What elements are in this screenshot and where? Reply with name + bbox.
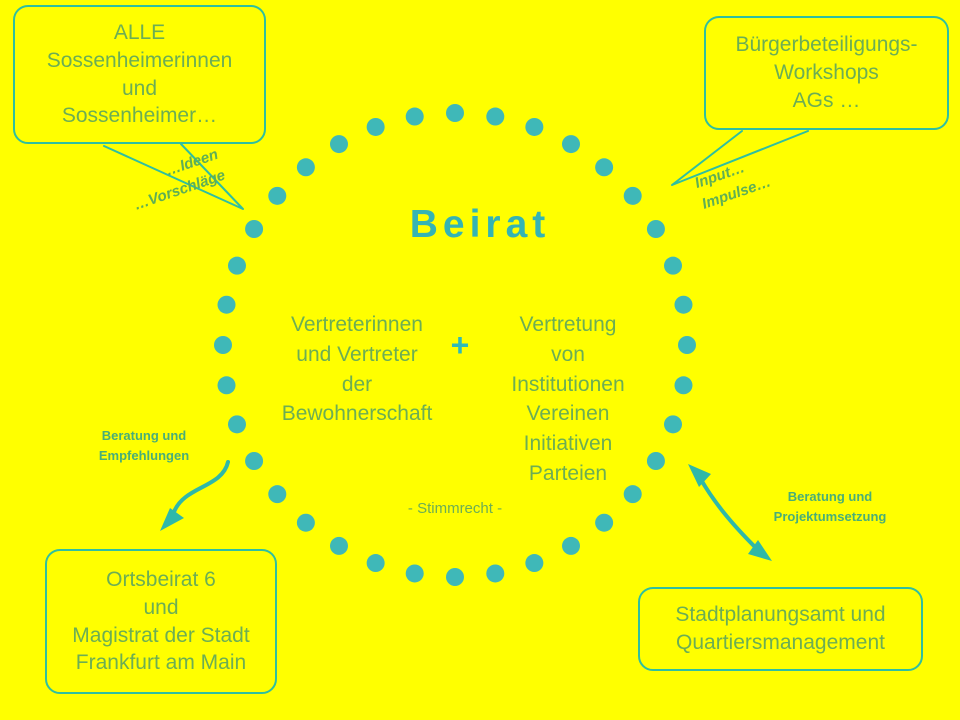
ring-dot bbox=[245, 452, 263, 470]
callout-box-ortsbeirat[interactable]: Ortsbeirat 6 und Magistrat der Stadt Fra… bbox=[45, 549, 277, 694]
ring-dot bbox=[562, 135, 580, 153]
arrow-advice-recommendations bbox=[174, 462, 228, 512]
ring-dot bbox=[214, 336, 232, 354]
ring-dot bbox=[525, 118, 543, 136]
ring-dot bbox=[595, 514, 613, 532]
ring-dot bbox=[674, 376, 692, 394]
ring-dot bbox=[525, 554, 543, 572]
ring-dot bbox=[367, 554, 385, 572]
callout-box-stadtplanungsamt[interactable]: Stadtplanungsamt und Quartiersmanagement bbox=[638, 587, 923, 671]
ring-dot bbox=[486, 564, 504, 582]
ring-dot bbox=[446, 568, 464, 586]
ring-dot bbox=[595, 158, 613, 176]
ring-dot bbox=[446, 104, 464, 122]
annotation-advice-recommendations: Beratung und Empfehlungen bbox=[63, 426, 225, 465]
diagram-canvas: ALLE Sossenheimerinnen und Sossenheimer…… bbox=[0, 0, 960, 720]
ring-dot bbox=[268, 485, 286, 503]
ring-dot bbox=[330, 135, 348, 153]
ring-dot bbox=[406, 108, 424, 126]
ring-dot bbox=[664, 257, 682, 275]
ring-dot bbox=[297, 158, 315, 176]
voting-rights-note: - Stimmrecht - bbox=[355, 500, 555, 517]
ring-dot bbox=[218, 296, 236, 314]
ring-dot bbox=[297, 514, 315, 532]
ring-dot bbox=[218, 376, 236, 394]
ring-dot bbox=[678, 336, 696, 354]
callout-box-workshops[interactable]: Bürgerbeteiligungs- Workshops AGs … bbox=[704, 16, 949, 130]
ring-dot bbox=[367, 118, 385, 136]
ring-dot bbox=[406, 564, 424, 582]
ring-dot bbox=[664, 415, 682, 433]
ring-dot bbox=[486, 108, 504, 126]
arrow-advice-projects-head-up bbox=[688, 464, 711, 487]
beirat-members-residents: Vertreterinnen und Vertreter der Bewohne… bbox=[272, 310, 442, 429]
ring-dot bbox=[562, 537, 580, 555]
plus-icon: + bbox=[440, 329, 480, 361]
beirat-members-institutions: Vertretung von Institutionen Vereinen In… bbox=[483, 310, 653, 489]
arrow-advice-projects-head-down bbox=[748, 540, 772, 561]
annotation-advice-projects: Beratung und Projektumsetzung bbox=[740, 487, 920, 526]
ring-dot bbox=[674, 296, 692, 314]
callout-box-residents[interactable]: ALLE Sossenheimerinnen und Sossenheimer… bbox=[13, 5, 266, 144]
arrow-advice-recommendations-head bbox=[160, 508, 184, 531]
ring-dot bbox=[228, 415, 246, 433]
ring-dot bbox=[228, 257, 246, 275]
ring-dot bbox=[330, 537, 348, 555]
